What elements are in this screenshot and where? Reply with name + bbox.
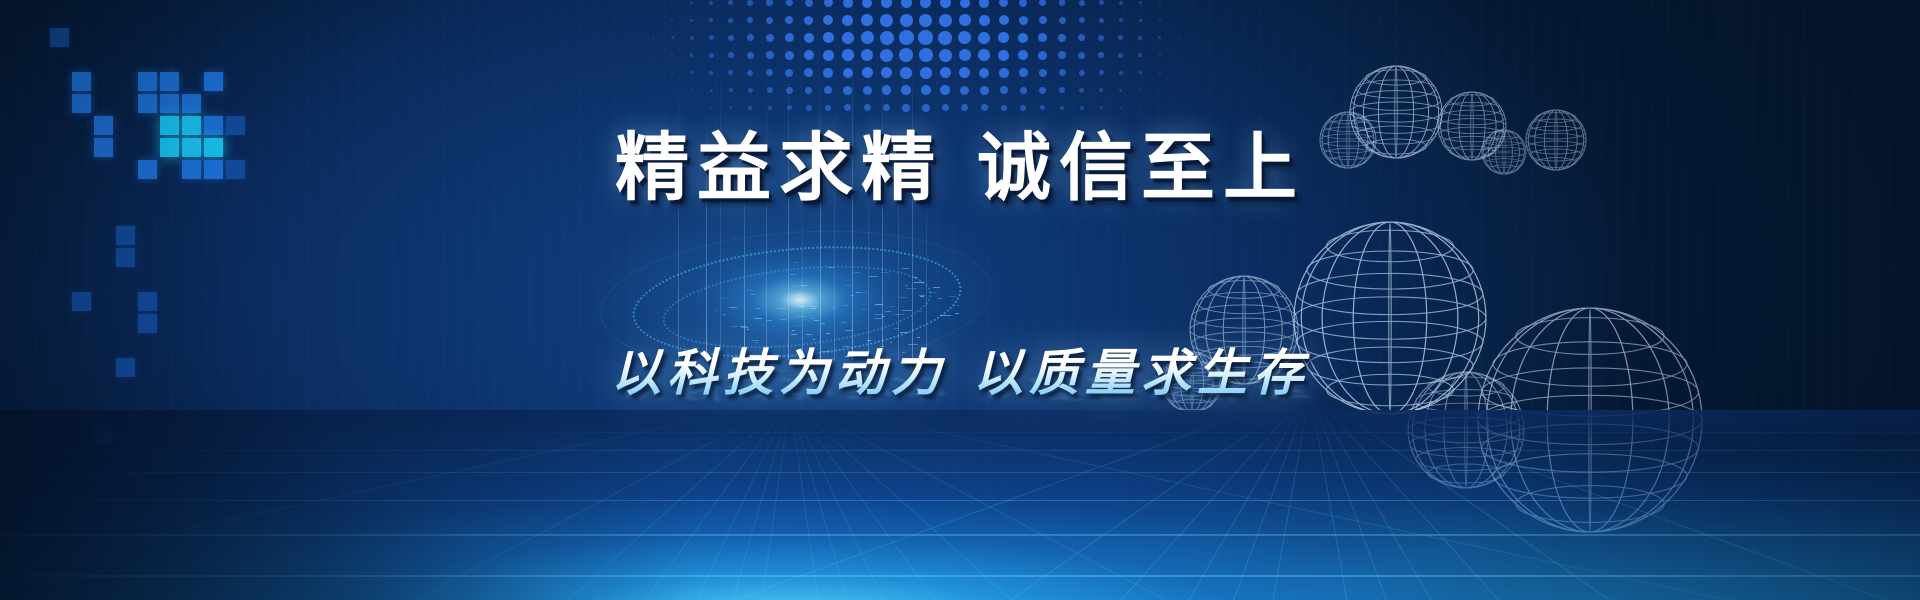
subtitle-part-2: 以质量求生存 xyxy=(973,343,1309,402)
headline-part-1: 精益求精 xyxy=(615,108,943,215)
edge-vignette xyxy=(0,0,1920,600)
slogan-banner: 精益求精诚信至上 以科技为动力以质量求生存 以科技为动力以质量求生存 xyxy=(0,0,1920,600)
subtitle-part-1: 以科技为动力 xyxy=(611,343,947,402)
headline-part-2: 诚信至上 xyxy=(977,108,1305,215)
page-subtitle: 以科技为动力以质量求生存 xyxy=(0,333,1920,405)
page-title: 精益求精诚信至上 xyxy=(0,108,1920,215)
